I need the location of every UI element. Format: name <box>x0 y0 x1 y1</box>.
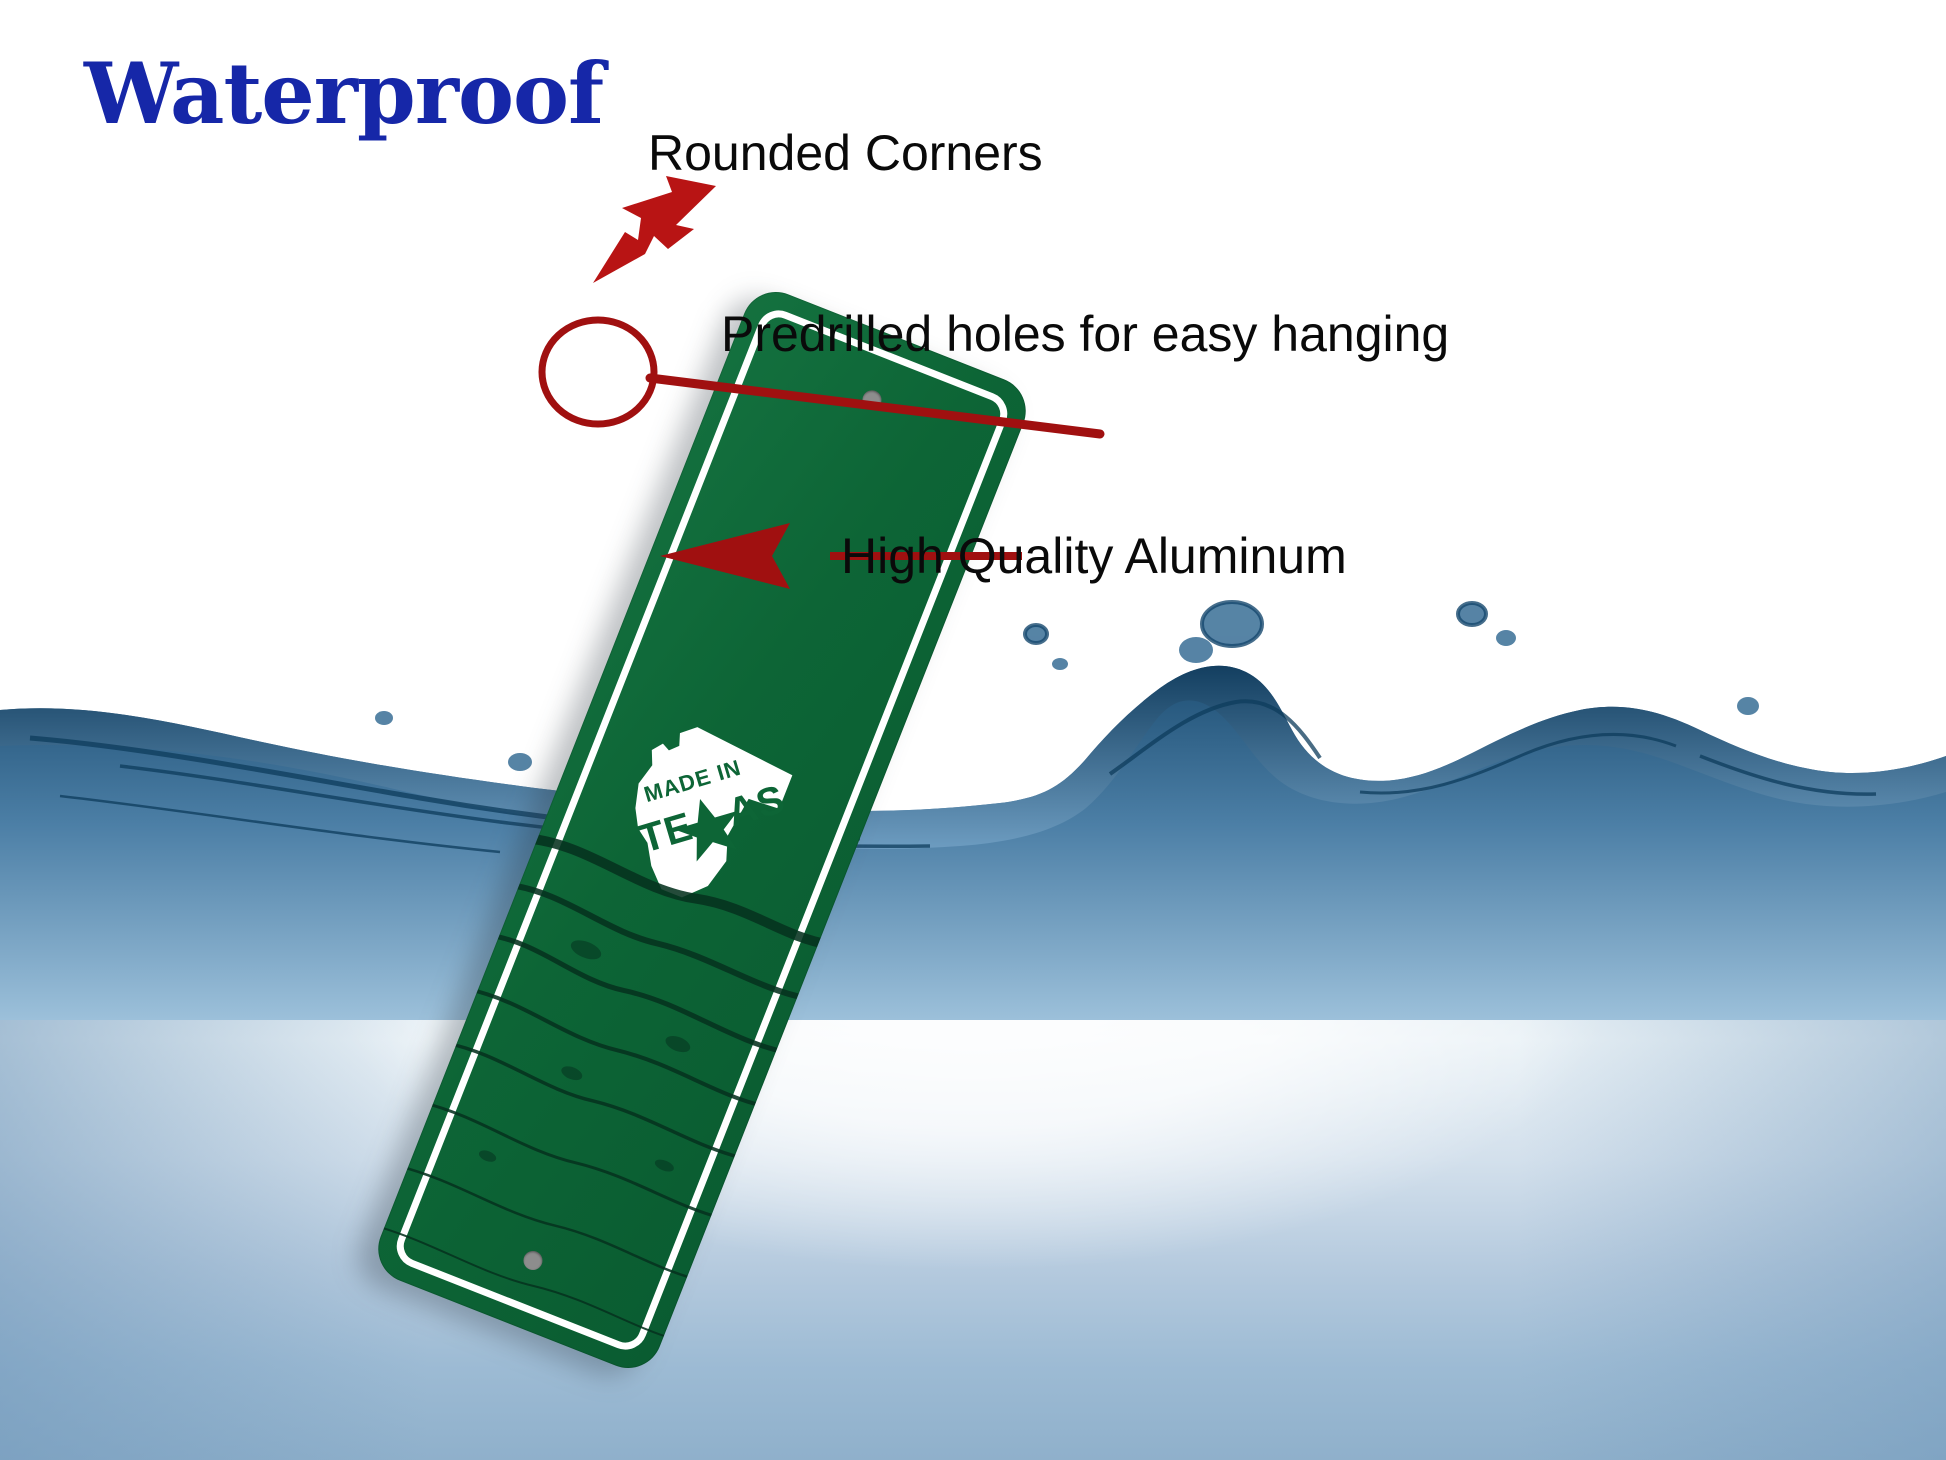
product-feature-image: MADE IN TE AS <box>0 0 1946 1460</box>
annotation-label-rounded-corners: Rounded Corners <box>648 124 1043 182</box>
annotation-label-predrilled-holes: Predrilled holes for easy hanging <box>721 305 1449 363</box>
page-title: Waterproof <box>84 52 603 136</box>
aluminum-sign: MADE IN TE AS <box>372 200 1032 1460</box>
sign-face: MADE IN TE AS <box>368 282 1036 1378</box>
annotation-label-high-quality-aluminum: High Quality Aluminum <box>841 527 1347 585</box>
